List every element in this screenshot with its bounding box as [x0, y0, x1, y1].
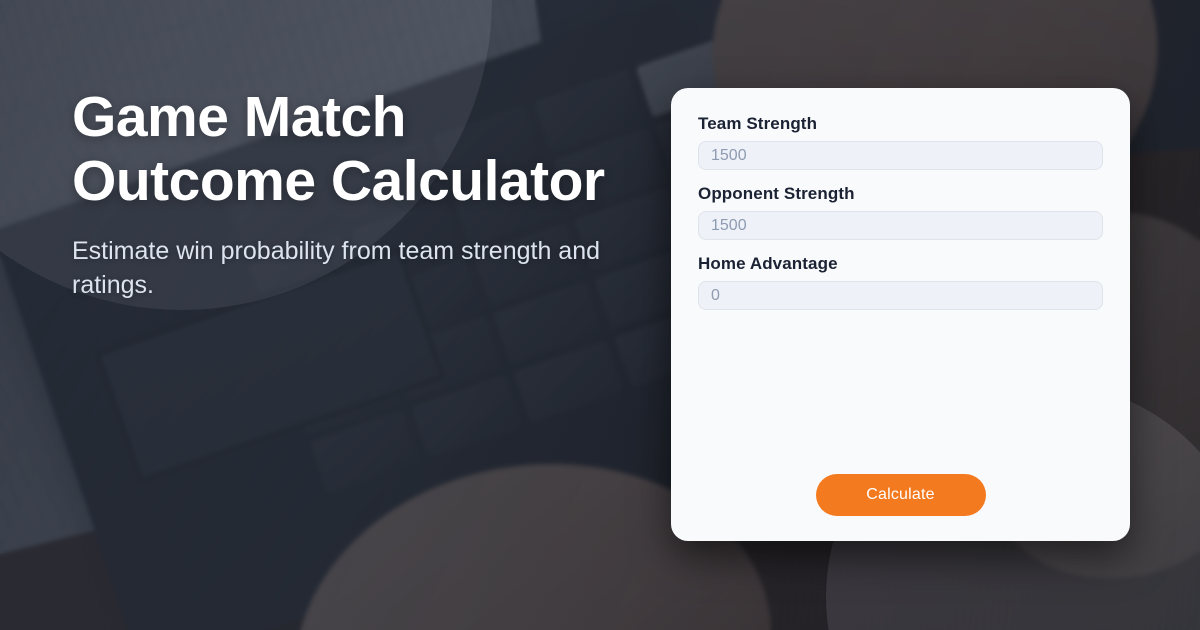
card-spacer	[698, 324, 1103, 474]
card-actions: Calculate	[698, 474, 1103, 541]
hero-copy: Game Match Outcome Calculator Estimate w…	[72, 86, 656, 303]
field-label-home-advantage: Home Advantage	[698, 254, 1103, 274]
team-strength-input[interactable]	[698, 141, 1103, 170]
field-label-opponent-strength: Opponent Strength	[698, 184, 1103, 204]
field-team-strength: Team Strength	[698, 114, 1103, 170]
hero-banner: Game Match Outcome Calculator Estimate w…	[0, 0, 1200, 630]
field-label-team-strength: Team Strength	[698, 114, 1103, 134]
field-opponent-strength: Opponent Strength	[698, 184, 1103, 240]
field-home-advantage: Home Advantage	[698, 254, 1103, 310]
calculate-button[interactable]: Calculate	[816, 474, 986, 516]
page-title: Game Match Outcome Calculator	[72, 86, 656, 214]
page-subtitle: Estimate win probability from team stren…	[72, 234, 656, 303]
opponent-strength-input[interactable]	[698, 211, 1103, 240]
calculator-form-card: Team Strength Opponent Strength Home Adv…	[671, 88, 1130, 541]
home-advantage-input[interactable]	[698, 281, 1103, 310]
